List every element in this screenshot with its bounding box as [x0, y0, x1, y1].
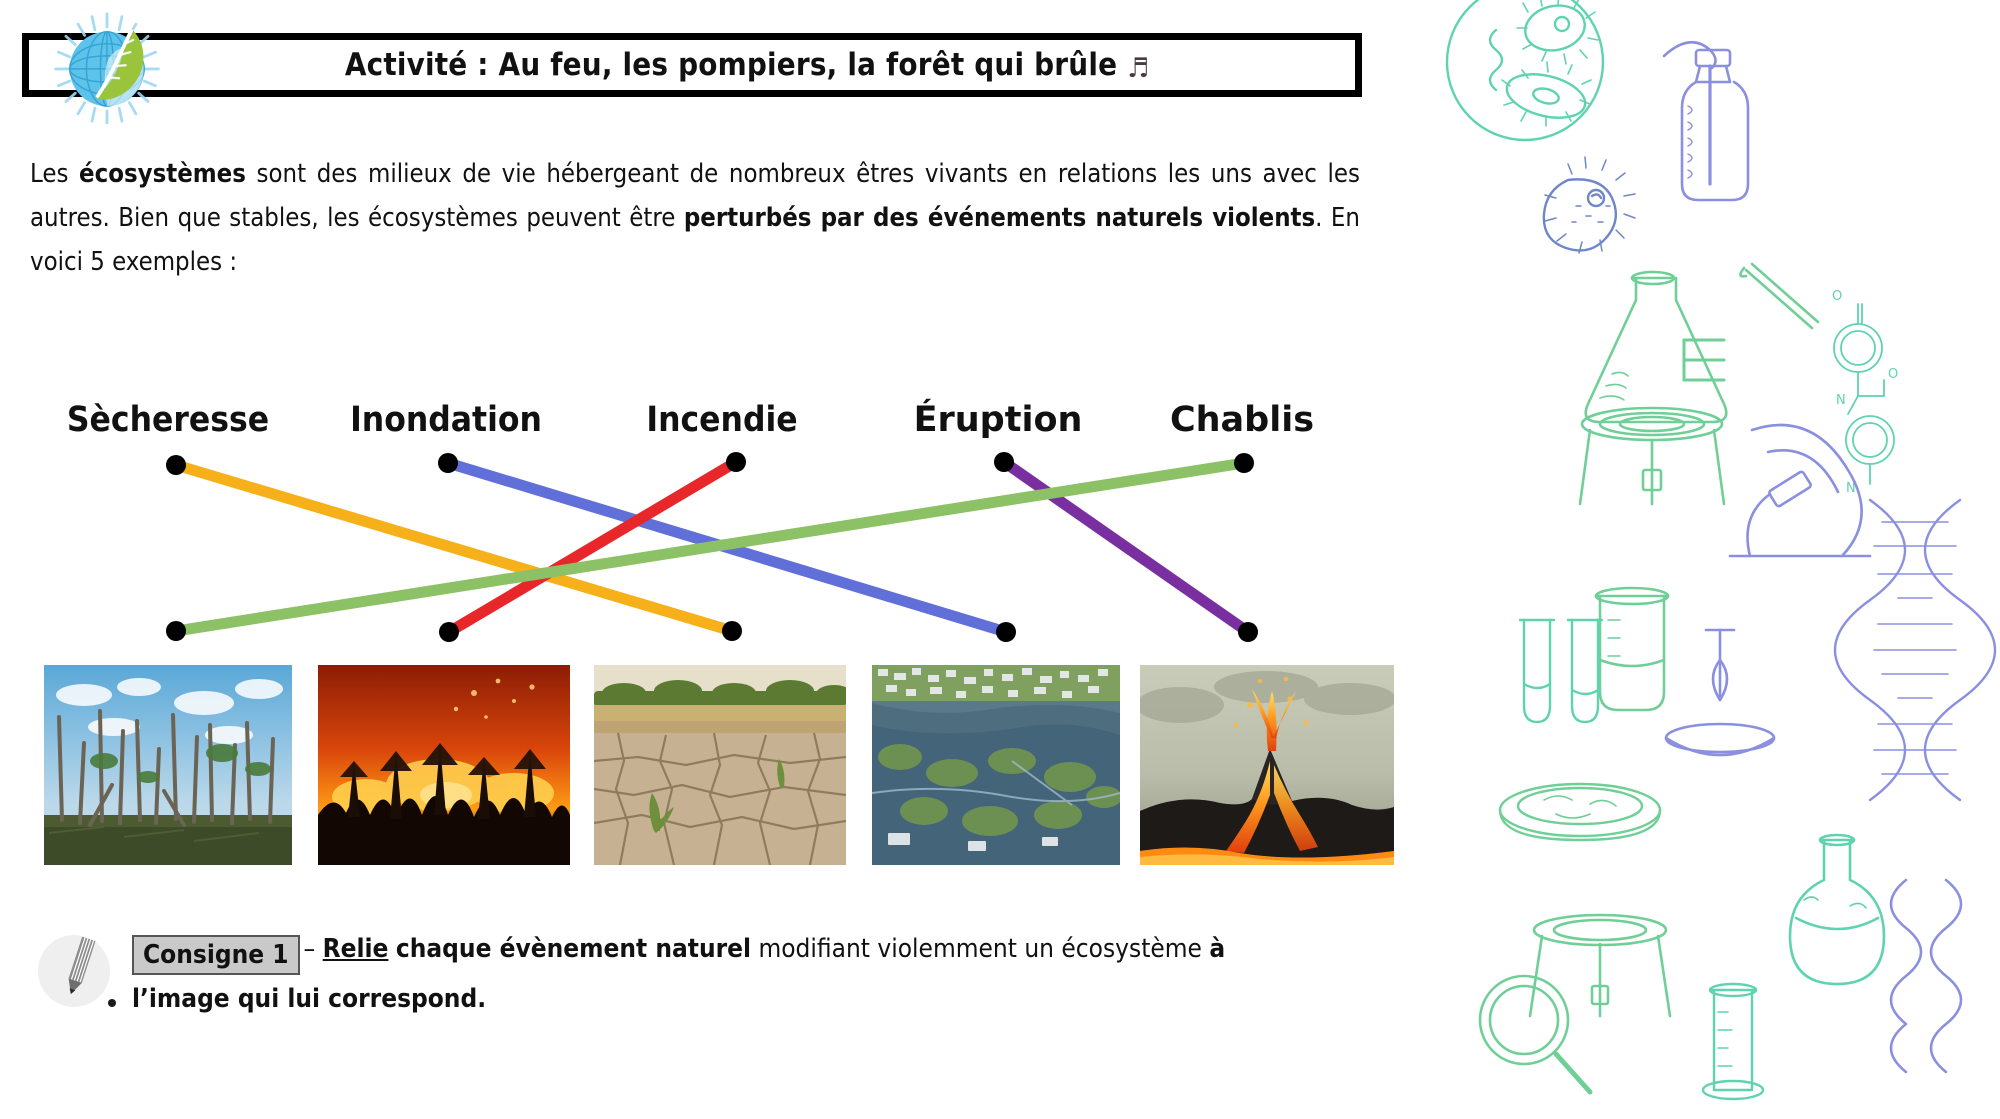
- image-cracked-dry-soil[interactable]: [594, 665, 846, 865]
- connector-line-chablis[interactable]: [176, 463, 1244, 631]
- image-aerial-flood[interactable]: [872, 665, 1120, 865]
- petri-dish-icon: [1500, 784, 1660, 840]
- wash-bottle-icon: [1664, 42, 1748, 200]
- erlenmeyer-flask-tripod-icon: [1580, 272, 1726, 504]
- connector-dot-bottom[interactable]: [996, 622, 1016, 642]
- image-windthrown-forest[interactable]: [44, 665, 292, 865]
- event-label-eruption: Éruption: [914, 400, 1083, 440]
- event-label-incendie: Incendie: [646, 400, 797, 440]
- activity-title-text: Activité : Au feu, les pompiers, la forê…: [345, 47, 1117, 83]
- worksheet-page: Activité : Au feu, les pompiers, la forê…: [0, 0, 2000, 1119]
- test-tube-icon: [1520, 620, 1602, 722]
- consigne-tag: Consigne 1: [132, 935, 300, 975]
- consigne-dash: –: [304, 934, 316, 964]
- connector-dot-bottom[interactable]: [1238, 622, 1258, 642]
- connector-dot-bottom[interactable]: [722, 621, 742, 641]
- event-label-chablis: Chablis: [1170, 400, 1314, 440]
- event-label-inondation: Inondation: [350, 400, 542, 440]
- consigne-row: Consigne 1– Relie chaque évènement natur…: [34, 925, 1364, 1023]
- music-note-icon: ♬: [1127, 53, 1149, 84]
- dna-helix-icon: [1835, 500, 1995, 800]
- svg-text:N: N: [1836, 393, 1846, 408]
- connector-dot-bottom[interactable]: [439, 622, 459, 642]
- globe-leaf-logo-icon: [48, 12, 166, 124]
- image-forest-fire[interactable]: [318, 665, 570, 865]
- intro-paragraph: Les écosystèmes sont des milieux de vie …: [30, 152, 1360, 284]
- connector-line-incendie[interactable]: [449, 462, 736, 632]
- connector-dot-top[interactable]: [994, 452, 1014, 472]
- consigne-middle: modifiant violemment un écosystème: [758, 934, 1202, 964]
- connector-dot-top[interactable]: [166, 455, 186, 475]
- chemical-structure-icon: O N O N: [1832, 289, 1898, 496]
- pencil-circle-icon: [34, 929, 120, 1015]
- graduated-cylinder-icon: [1703, 984, 1763, 1099]
- connector-dot-bottom[interactable]: [166, 621, 186, 641]
- worksheet-content: Activité : Au feu, les pompiers, la forê…: [0, 0, 1420, 1119]
- page-title: Activité : Au feu, les pompiers, la forê…: [235, 47, 1149, 84]
- glass-rod-icon: [1740, 264, 1818, 328]
- consigne-instruction: Consigne 1– Relie chaque évènement natur…: [132, 925, 1312, 1023]
- intro-bold-segment: écosystèmes: [79, 159, 246, 189]
- connector-dot-top[interactable]: [438, 453, 458, 473]
- svg-text:O: O: [1888, 367, 1898, 382]
- image-volcano-eruption[interactable]: [1140, 665, 1394, 865]
- burner-icon: [1666, 630, 1774, 755]
- connector-dot-top[interactable]: [1234, 453, 1254, 473]
- event-label-secheresse: Sècheresse: [67, 400, 269, 440]
- beaker-icon: [1596, 588, 1668, 710]
- amoeba-icon: [1544, 157, 1635, 253]
- intro-bold-segment: perturbés par des événements naturels vi…: [684, 203, 1315, 233]
- connector-line-éruption[interactable]: [1004, 462, 1248, 632]
- intro-text-segment: Les: [30, 159, 79, 189]
- condenser-tube-icon: [1891, 880, 1961, 1072]
- connector-line-inondation[interactable]: [448, 463, 1006, 632]
- connector-dot-top[interactable]: [726, 452, 746, 472]
- consigne-verb: Relie: [323, 934, 389, 964]
- activity-title-banner: Activité : Au feu, les pompiers, la forê…: [22, 33, 1362, 97]
- magnifier-icon: [1480, 976, 1590, 1092]
- round-flask-icon: [1790, 835, 1884, 984]
- science-doodle-border: O N O N: [1400, 0, 2000, 1119]
- svg-text:O: O: [1832, 289, 1842, 304]
- petri-dish-bacteria-icon: [1447, 0, 1603, 140]
- consigne-bold-1: chaque évènement naturel: [396, 934, 751, 964]
- connector-line-sècheresse[interactable]: [176, 465, 732, 631]
